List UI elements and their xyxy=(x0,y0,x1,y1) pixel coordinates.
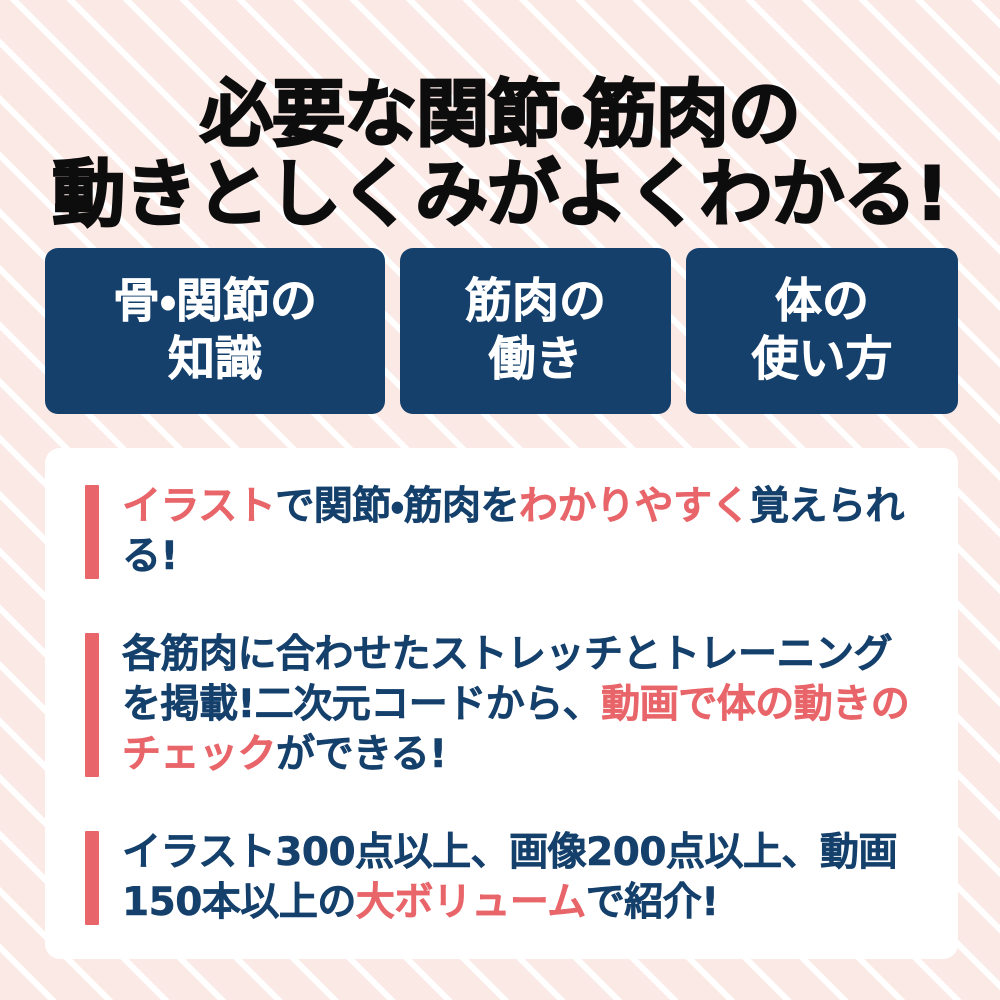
category-box-bone-joint-knowledge[interactable]: 骨・関節の 知識 xyxy=(45,248,385,414)
body-text: で関節・筋肉を xyxy=(275,484,519,529)
body-text: で紹介! xyxy=(586,880,719,925)
category-box-label: 骨・関節の 知識 xyxy=(113,273,317,389)
page-title: 必要な関節・筋肉の 動きとしくみがよくわかる! xyxy=(0,75,1000,235)
feature-item: イラストで関節・筋肉をわかりやすく覚えられる! xyxy=(85,482,925,582)
headline-line-2: 動きとしくみがよくわかる! xyxy=(0,155,1000,235)
highlight-text: イラスト xyxy=(122,484,275,529)
highlight-text: わかりやすく xyxy=(519,484,750,529)
feature-bullet-bar xyxy=(85,485,99,579)
feature-bullet-bar xyxy=(85,831,99,925)
feature-list: イラストで関節・筋肉をわかりやすく覚えられる! 各筋肉に合わせたストレッチとトレ… xyxy=(85,482,925,928)
category-box-label: 体の 使い方 xyxy=(752,273,893,389)
feature-bullet-bar xyxy=(85,633,99,777)
body-text: ができる! xyxy=(276,732,447,777)
feature-text: 各筋肉に合わせたストレッチとトレーニングを掲載!二次元コードから、動画で体の動き… xyxy=(122,630,925,780)
feature-text: イラストで関節・筋肉をわかりやすく覚えられる! xyxy=(122,482,925,582)
category-box-muscle-function[interactable]: 筋肉の 働き xyxy=(400,248,671,414)
feature-item: イラスト300点以上、画像200点以上、動画150本以上の大ボリュームで紹介! xyxy=(85,828,925,928)
category-box-group: 骨・関節の 知識 筋肉の 働き 体の 使い方 xyxy=(45,248,958,414)
highlight-text: 大ボリューム xyxy=(356,880,586,925)
category-box-label: 筋肉の 働き xyxy=(465,273,606,389)
feature-card: イラストで関節・筋肉をわかりやすく覚えられる! 各筋肉に合わせたストレッチとトレ… xyxy=(45,448,958,959)
category-box-body-usage[interactable]: 体の 使い方 xyxy=(686,248,958,414)
feature-text: イラスト300点以上、画像200点以上、動画150本以上の大ボリュームで紹介! xyxy=(122,828,925,928)
headline-line-1: 必要な関節・筋肉の xyxy=(0,75,1000,155)
feature-item: 各筋肉に合わせたストレッチとトレーニングを掲載!二次元コードから、動画で体の動き… xyxy=(85,630,925,780)
promotional-poster: 必要な関節・筋肉の 動きとしくみがよくわかる! 骨・関節の 知識 筋肉の 働き … xyxy=(0,0,1000,1000)
